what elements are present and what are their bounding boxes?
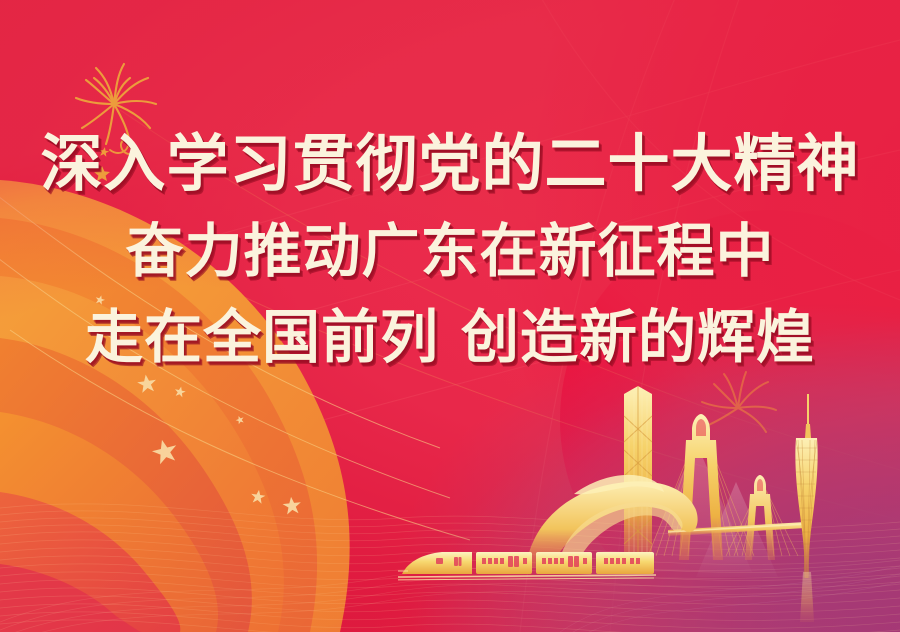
poster-canvas: 深入学习贯彻党的二十大精神 奋力推动广东在新征程中 走在全国前列创造新的辉煌 (0, 0, 900, 632)
firework-burst-icon (52, 52, 182, 182)
ctf-finance-tower (624, 386, 652, 560)
canton-tower (795, 394, 818, 622)
high-speed-train (398, 544, 658, 584)
guangdong-skyline (520, 372, 900, 632)
